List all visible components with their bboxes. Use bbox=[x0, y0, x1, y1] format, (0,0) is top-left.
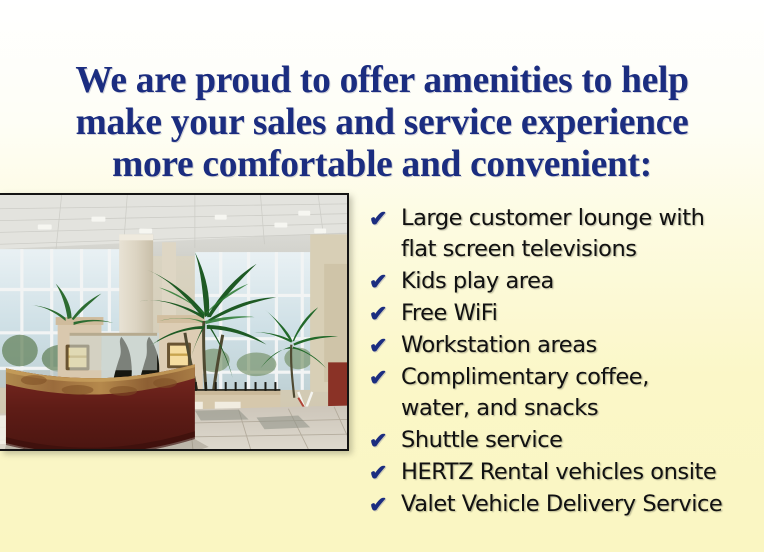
list-item-label: Shuttle service bbox=[401, 425, 764, 456]
check-icon: ✔ bbox=[366, 425, 401, 456]
list-item: ✔ Free WiFi bbox=[366, 298, 764, 329]
page-title-line-3: more comfortable and convenient: bbox=[6, 143, 759, 185]
list-item: ✔ Workstation areas bbox=[366, 330, 764, 361]
check-icon: ✔ bbox=[366, 489, 401, 520]
list-item-label: Workstation areas bbox=[401, 330, 764, 361]
list-item: ✔ Valet Vehicle Delivery Service bbox=[366, 489, 764, 520]
page-title-line-2: make your sales and service experience bbox=[6, 101, 759, 143]
list-item-label: Free WiFi bbox=[401, 298, 764, 329]
list-item: ✔ Large customer lounge with flat screen… bbox=[366, 203, 764, 265]
list-item: ✔ HERTZ Rental vehicles onsite bbox=[366, 457, 764, 488]
list-item: ✔ Kids play area bbox=[366, 266, 764, 297]
check-icon: ✔ bbox=[366, 362, 401, 393]
amenities-slide: We are proud to offer amenities to help … bbox=[0, 0, 764, 552]
list-item-label: HERTZ Rental vehicles onsite bbox=[401, 457, 764, 488]
amenities-list: ✔ Large customer lounge with flat screen… bbox=[366, 203, 764, 521]
list-item-label: Kids play area bbox=[401, 266, 764, 297]
list-item: ✔ Shuttle service bbox=[366, 425, 764, 456]
list-item-label: Valet Vehicle Delivery Service bbox=[401, 489, 764, 520]
check-icon: ✔ bbox=[366, 330, 401, 361]
check-icon: ✔ bbox=[366, 203, 401, 234]
list-item: ✔ Complimentary coffee, water, and snack… bbox=[366, 362, 764, 424]
check-icon: ✔ bbox=[366, 266, 401, 297]
list-item-label: Complimentary coffee, water, and snacks bbox=[401, 362, 764, 424]
page-title: We are proud to offer amenities to help … bbox=[0, 59, 764, 185]
lobby-photo-image bbox=[0, 195, 347, 449]
page-title-line-1: We are proud to offer amenities to help bbox=[6, 59, 759, 101]
lobby-photo bbox=[0, 193, 349, 451]
check-icon: ✔ bbox=[366, 298, 401, 329]
list-item-label: Large customer lounge with flat screen t… bbox=[401, 203, 764, 265]
check-icon: ✔ bbox=[366, 457, 401, 488]
